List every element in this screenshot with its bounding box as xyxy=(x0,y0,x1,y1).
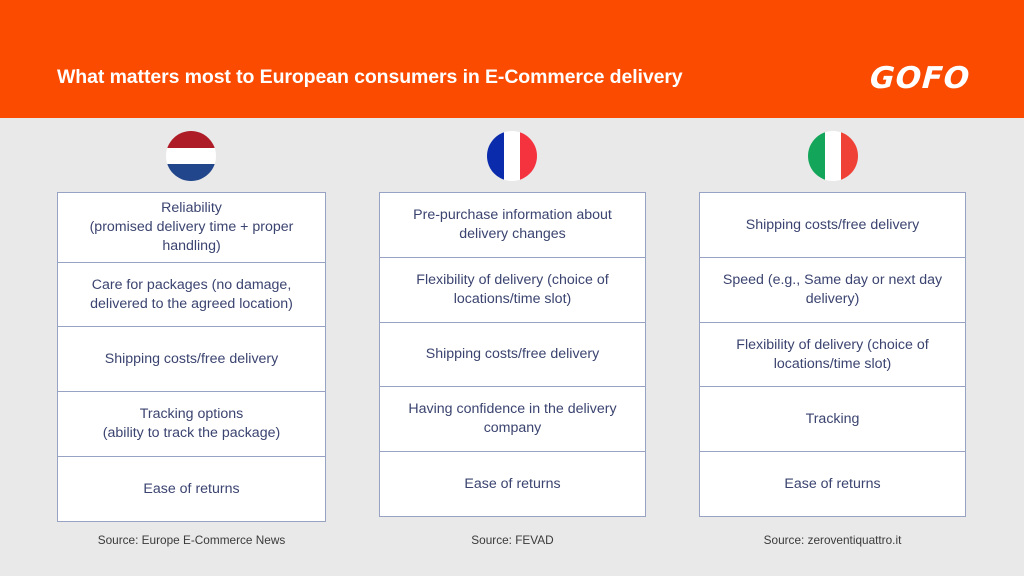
table-row: Reliability(promised delivery time + pro… xyxy=(58,193,325,263)
table-cell-text: Shipping costs/free delivery xyxy=(746,216,920,235)
table-row: Tracking options(ability to track the pa… xyxy=(58,392,325,457)
table-cell-text: Speed (e.g., Same day or next day delive… xyxy=(710,271,955,309)
table-row: Tracking xyxy=(700,387,965,452)
source-caption-italy: Source: zeroventiquattro.it xyxy=(699,533,966,547)
table-row: Ease of returns xyxy=(700,452,965,516)
priority-table: Reliability(promised delivery time + pro… xyxy=(57,192,326,522)
country-column-netherlands: Reliability(promised delivery time + pro… xyxy=(57,192,326,522)
flag-band-red xyxy=(520,131,537,181)
table-cell-text: Shipping costs/free delivery xyxy=(426,345,600,364)
table-row: Flexibility of delivery (choice of locat… xyxy=(380,258,645,323)
table-row: Ease of returns xyxy=(58,457,325,521)
table-row: Flexibility of delivery (choice of locat… xyxy=(700,323,965,387)
table-row: Ease of returns xyxy=(380,452,645,516)
table-cell-text: Shipping costs/free delivery xyxy=(105,350,279,369)
flag-band-green xyxy=(808,131,825,181)
flag-netherlands-icon xyxy=(166,131,216,181)
flag-band-red xyxy=(166,131,216,148)
flag-italy-icon xyxy=(808,131,858,181)
priority-table: Shipping costs/free delivery Speed (e.g.… xyxy=(699,192,966,517)
flag-band-blue xyxy=(487,131,504,181)
table-row: Shipping costs/free delivery xyxy=(380,323,645,387)
infographic-page: What matters most to European consumers … xyxy=(0,0,1024,576)
flag-france-icon xyxy=(487,131,537,181)
source-caption-netherlands: Source: Europe E-Commerce News xyxy=(57,533,326,547)
table-row: Having confidence in the delivery compan… xyxy=(380,387,645,452)
table-cell-text: Tracking xyxy=(806,410,860,429)
table-cell-text: Pre-purchase information about delivery … xyxy=(390,206,635,244)
gofo-logo: GOFO xyxy=(869,61,972,96)
table-cell-text: Care for packages (no damage, delivered … xyxy=(68,276,315,314)
country-column-italy: Shipping costs/free delivery Speed (e.g.… xyxy=(699,192,966,517)
table-cell-text: Reliability(promised delivery time + pro… xyxy=(68,199,315,256)
flag-band-white xyxy=(166,148,216,165)
flag-band-white xyxy=(825,131,842,181)
header-bar: What matters most to European consumers … xyxy=(0,0,1024,118)
table-cell-text: Ease of returns xyxy=(143,480,239,499)
page-title: What matters most to European consumers … xyxy=(57,66,683,89)
table-cell-text: Ease of returns xyxy=(784,475,880,494)
flag-band-blue xyxy=(166,164,216,181)
table-row: Pre-purchase information about delivery … xyxy=(380,193,645,258)
flag-band-red xyxy=(841,131,858,181)
country-column-france: Pre-purchase information about delivery … xyxy=(379,192,646,517)
table-row: Care for packages (no damage, delivered … xyxy=(58,263,325,327)
table-cell-text: Flexibility of delivery (choice of locat… xyxy=(710,336,955,374)
table-row: Shipping costs/free delivery xyxy=(700,193,965,258)
table-row: Speed (e.g., Same day or next day delive… xyxy=(700,258,965,323)
table-cell-text: Flexibility of delivery (choice of locat… xyxy=(390,271,635,309)
table-row: Shipping costs/free delivery xyxy=(58,327,325,392)
priority-table: Pre-purchase information about delivery … xyxy=(379,192,646,517)
table-cell-text: Ease of returns xyxy=(464,475,560,494)
source-caption-france: Source: FEVAD xyxy=(379,533,646,547)
flag-band-white xyxy=(504,131,521,181)
table-cell-text: Tracking options(ability to track the pa… xyxy=(103,405,280,443)
table-cell-text: Having confidence in the delivery compan… xyxy=(390,400,635,438)
